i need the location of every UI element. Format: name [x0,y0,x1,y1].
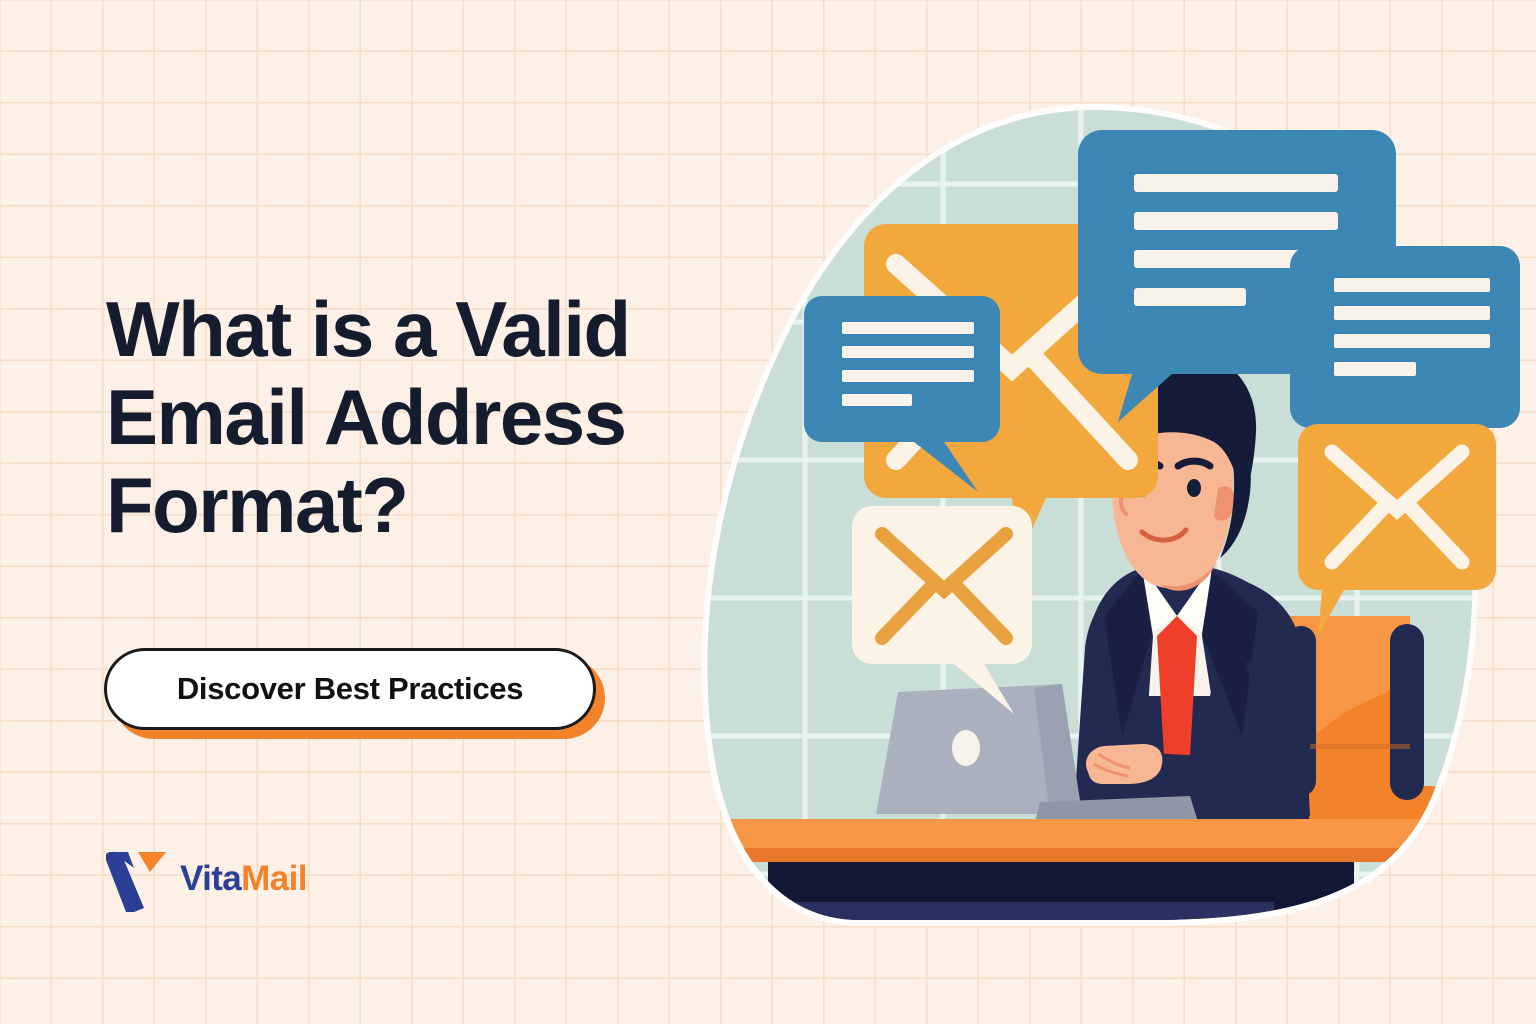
discover-best-practices-button[interactable]: Discover Best Practices [104,648,596,730]
vitamail-v-mark [104,846,166,912]
vitamail-logo[interactable]: VitaMail [104,846,307,912]
banner-canvas: What is a Valid Email Address Format? Di… [0,0,1536,1024]
logo-word-mail: Mail [241,859,307,898]
cta-label: Discover Best Practices [177,671,523,707]
cta-wrapper: Discover Best Practices [104,648,604,740]
hero-copy: What is a Valid Email Address Format? [106,285,766,549]
logo-word-vita: Vita [180,859,241,898]
logo-wordmark: VitaMail [180,859,307,899]
page-title: What is a Valid Email Address Format? [106,285,766,549]
hero-illustration [690,96,1520,926]
desk [710,819,1450,926]
